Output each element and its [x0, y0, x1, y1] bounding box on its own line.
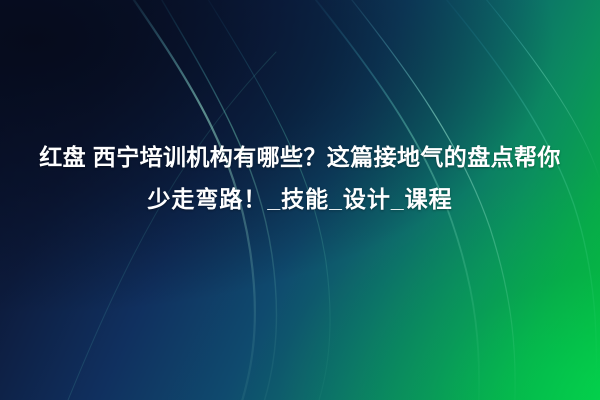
banner-title-line-2: 少走弯路！_技能_设计_课程 [8, 178, 592, 220]
banner-title: 红盘 西宁培训机构有哪些？这篇接地气的盘点帮你 少走弯路！_技能_设计_课程 [0, 136, 600, 220]
banner-image: 红盘 西宁培训机构有哪些？这篇接地气的盘点帮你 少走弯路！_技能_设计_课程 [0, 0, 600, 400]
banner-title-line-1: 红盘 西宁培训机构有哪些？这篇接地气的盘点帮你 [8, 136, 592, 178]
